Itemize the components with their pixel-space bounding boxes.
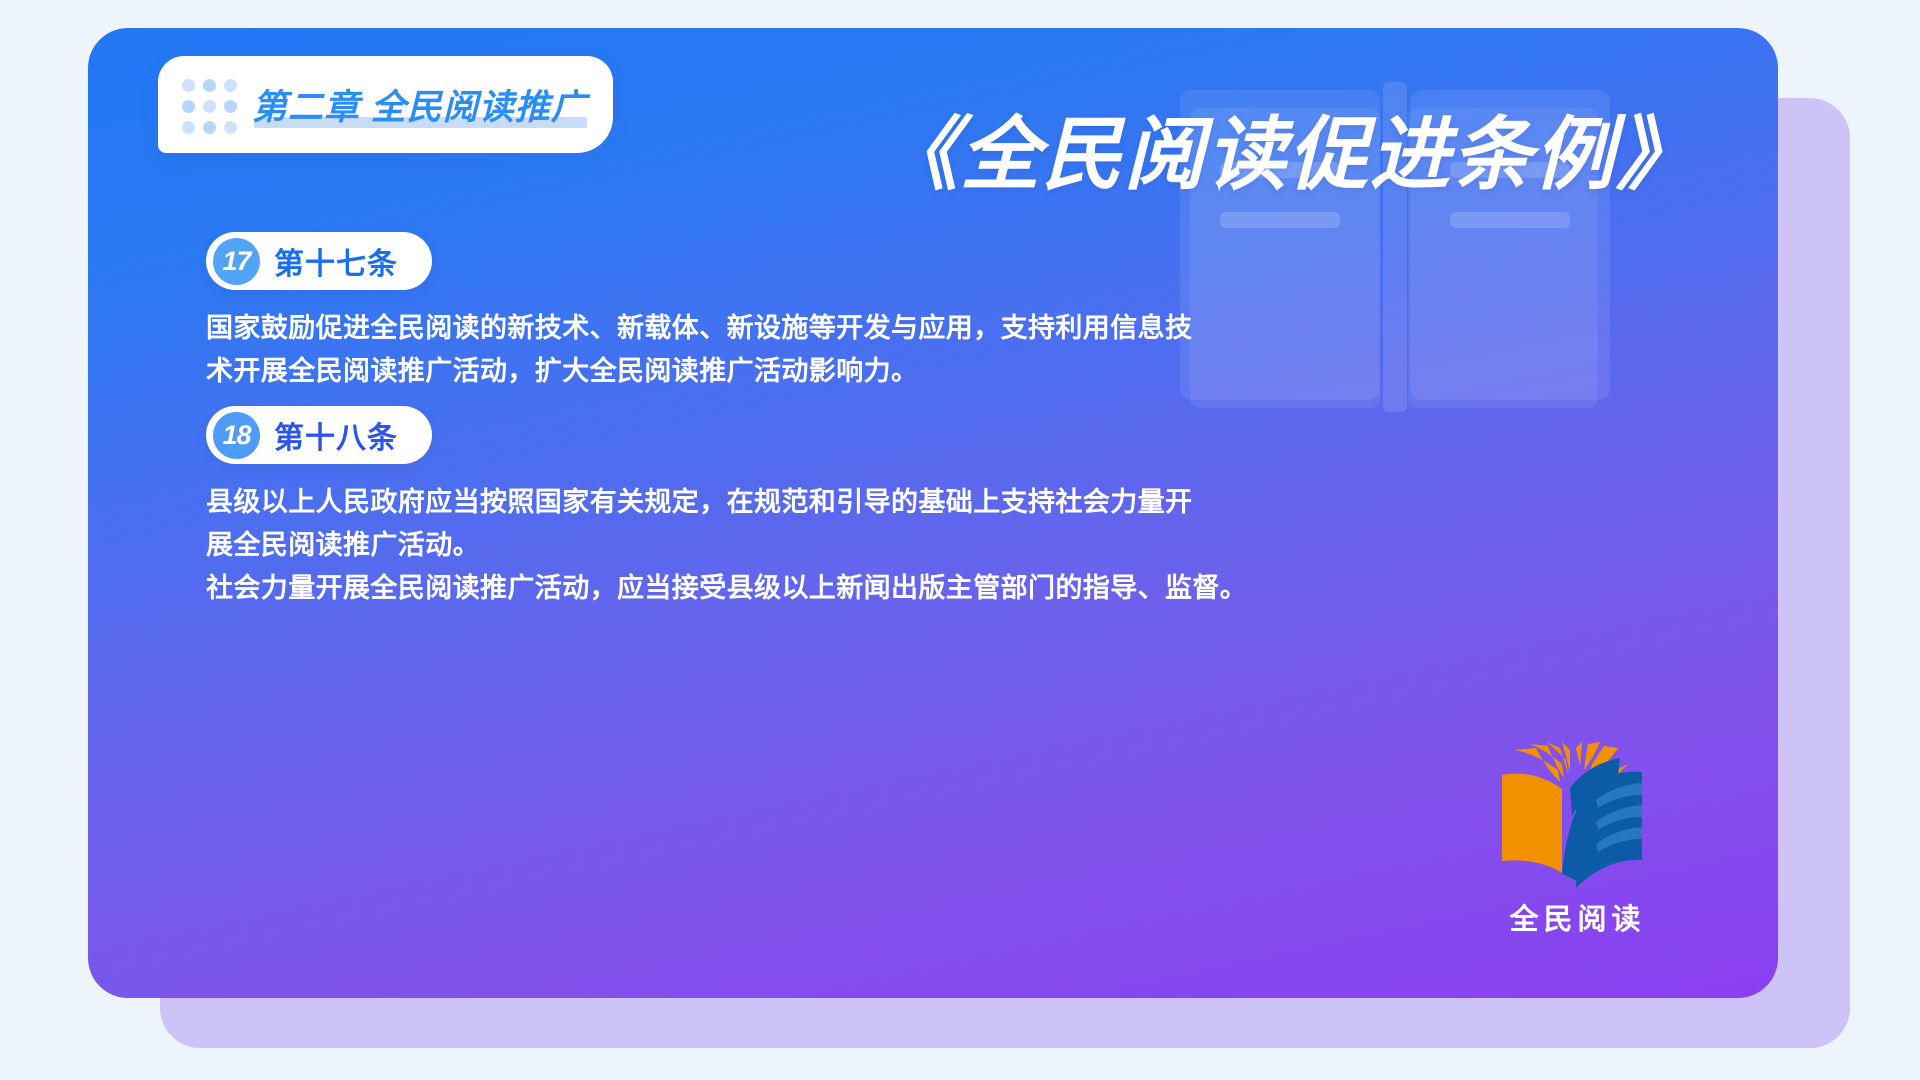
article-line: 县级以上人民政府应当按照国家有关规定，在规范和引导的基础上支持社会力量开: [206, 481, 1247, 524]
main-card: 第二章 全民阅读推广 《全民阅读促进条例》 17 第十七条 国家鼓励促进全民阅读…: [88, 28, 1778, 998]
article-line: 展全民阅读推广活动。: [206, 524, 1247, 567]
brand-name: 全民阅读: [1480, 896, 1670, 938]
article-body-17: 国家鼓励促进全民阅读的新技术、新载体、新设施等开发与应用，支持利用信息技 术开展…: [206, 307, 1192, 393]
brand-logo: 全民阅读: [1480, 742, 1670, 938]
article-header-17: 17 第十七条: [206, 232, 432, 290]
article-title-17: 第十七条: [274, 239, 398, 283]
page-title: 《全民阅读促进条例》: [878, 90, 1698, 206]
article-body-18: 县级以上人民政府应当按照国家有关规定，在规范和引导的基础上支持社会力量开 展全民…: [206, 481, 1247, 610]
article-line: 国家鼓励促进全民阅读的新技术、新载体、新设施等开发与应用，支持利用信息技: [206, 307, 1192, 350]
article-block-18: 18 第十八条 县级以上人民政府应当按照国家有关规定，在规范和引导的基础上支持社…: [206, 406, 1247, 610]
article-number-badge-18: 18: [213, 412, 260, 459]
open-book-logo-icon: [1500, 742, 1650, 890]
article-title-18: 第十八条: [274, 413, 398, 457]
chapter-tag: 第二章 全民阅读推广: [158, 56, 613, 153]
article-header-18: 18 第十八条: [206, 406, 432, 464]
chapter-label: 第二章 全民阅读推广: [252, 88, 587, 127]
article-number-badge-17: 17: [213, 238, 260, 285]
poster-root: 第二章 全民阅读推广 《全民阅读促进条例》 17 第十七条 国家鼓励促进全民阅读…: [0, 0, 1920, 1080]
dot-grid-decoration: [182, 79, 238, 135]
article-line: 术开展全民阅读推广活动，扩大全民阅读推广活动影响力。: [206, 350, 1192, 393]
article-line: 社会力量开展全民阅读推广活动，应当接受县级以上新闻出版主管部门的指导、监督。: [206, 567, 1247, 610]
chapter-text-wrap: 第二章 全民阅读推广: [252, 79, 613, 130]
article-block-17: 17 第十七条 国家鼓励促进全民阅读的新技术、新载体、新设施等开发与应用，支持利…: [206, 232, 1192, 393]
